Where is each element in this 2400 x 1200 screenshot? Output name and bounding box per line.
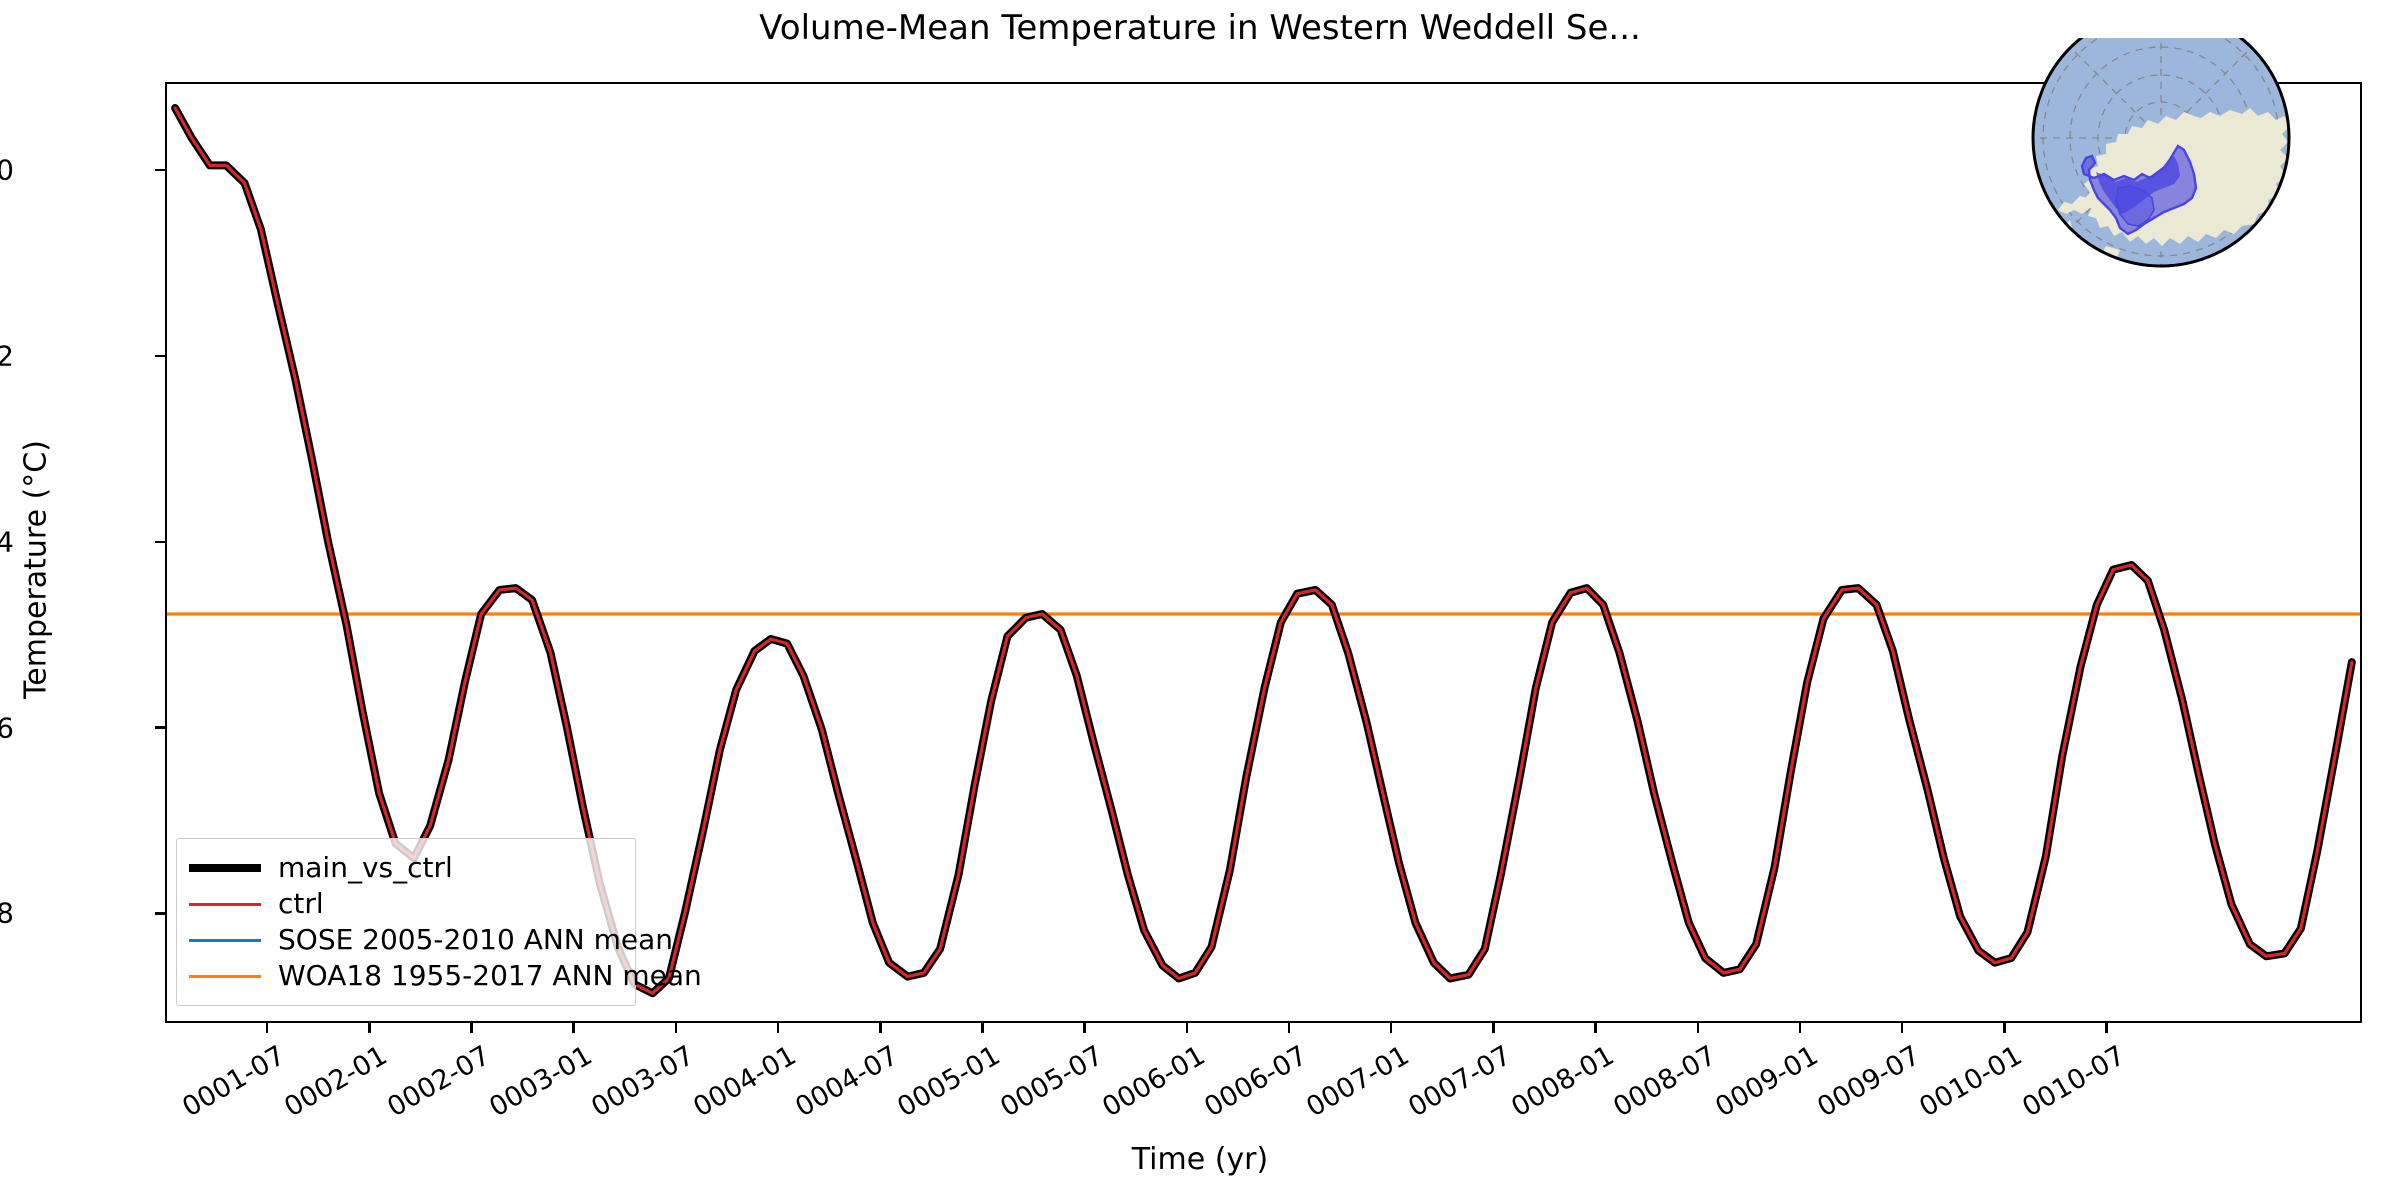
x-tick-mark xyxy=(1083,1023,1086,1033)
figure-canvas: Volume-Mean Temperature in Western Wedde… xyxy=(0,0,2400,1200)
x-axis-title: Time (yr) xyxy=(0,1142,2400,1177)
legend: main_vs_ctrlctrlSOSE 2005-2010 ANN meanW… xyxy=(176,838,636,1006)
x-tick-mark xyxy=(572,1023,575,1033)
legend-item[interactable]: ctrl xyxy=(189,886,621,922)
x-tick-mark xyxy=(1799,1023,1802,1033)
x-tick-mark xyxy=(368,1023,371,1033)
y-tick-label: −1.2 xyxy=(0,340,14,373)
y-tick-mark xyxy=(155,355,165,358)
x-tick-mark xyxy=(777,1023,780,1033)
legend-item-label: WOA18 1955-2017 ANN mean xyxy=(278,962,702,990)
x-tick-mark xyxy=(1594,1023,1597,1033)
x-tick-mark xyxy=(675,1023,678,1033)
legend-color-swatch xyxy=(189,939,261,942)
y-tick-label: −1.6 xyxy=(0,711,14,744)
x-tick-mark xyxy=(2105,1023,2108,1033)
x-tick-mark xyxy=(1186,1023,1189,1033)
legend-item[interactable]: WOA18 1955-2017 ANN mean xyxy=(189,958,621,994)
legend-item-label: SOSE 2005-2010 ANN mean xyxy=(278,926,673,954)
y-tick-mark xyxy=(155,912,165,915)
y-axis-title: Temperature (°C) xyxy=(19,250,54,890)
legend-item-label: main_vs_ctrl xyxy=(278,854,453,882)
y-tick-mark xyxy=(155,726,165,729)
y-tick-label: −1.0 xyxy=(0,154,14,187)
x-tick-mark xyxy=(1901,1023,1904,1033)
legend-color-swatch xyxy=(189,864,261,872)
x-tick-mark xyxy=(1390,1023,1393,1033)
y-tick-label: −1.4 xyxy=(0,525,14,558)
antarctic-polar-stereographic-map xyxy=(1958,38,2358,288)
x-tick-mark xyxy=(981,1023,984,1033)
y-tick-mark xyxy=(155,541,165,544)
y-tick-label: −1.8 xyxy=(0,897,14,930)
x-tick-mark xyxy=(1492,1023,1495,1033)
x-tick-mark xyxy=(1697,1023,1700,1033)
legend-color-swatch xyxy=(189,903,261,906)
legend-color-swatch xyxy=(189,975,261,978)
legend-item[interactable]: SOSE 2005-2010 ANN mean xyxy=(189,922,621,958)
x-tick-mark xyxy=(2003,1023,2006,1033)
x-tick-mark xyxy=(1288,1023,1291,1033)
x-tick-mark xyxy=(470,1023,473,1033)
x-tick-mark xyxy=(266,1023,269,1033)
x-tick-mark xyxy=(879,1023,882,1033)
legend-item-label: ctrl xyxy=(278,890,324,918)
legend-item[interactable]: main_vs_ctrl xyxy=(189,850,621,886)
y-tick-mark xyxy=(155,169,165,172)
